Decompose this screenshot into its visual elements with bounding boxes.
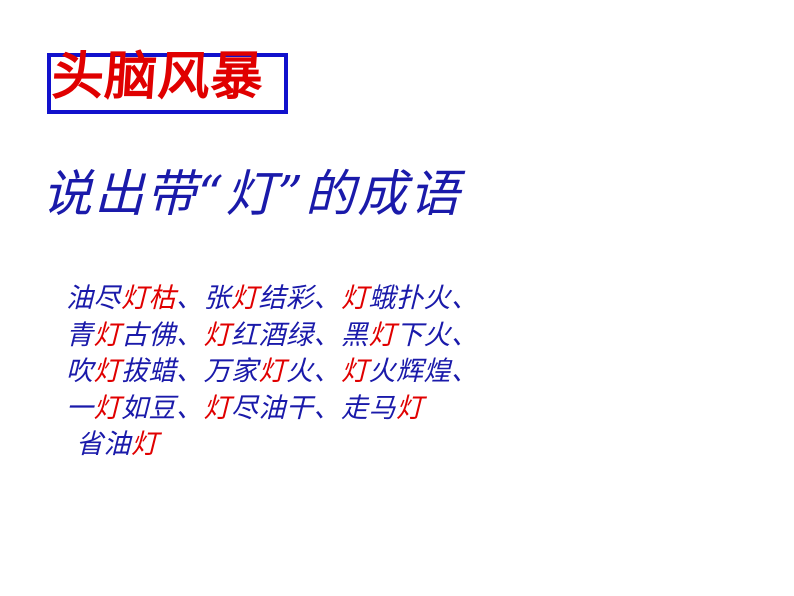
- idiom-line: 青灯古佛、灯红酒绿、黑灯下火、: [66, 318, 479, 355]
- idiom-text: 拔蜡、万家: [121, 356, 259, 387]
- idiom-list: 油尽灯枯、张灯结彩、灯蛾扑火、青灯古佛、灯红酒绿、黑灯下火、吹灯拔蜡、万家灯火、…: [66, 281, 479, 464]
- idiom-highlight-char: 灯: [94, 320, 122, 351]
- idiom-line: 一灯如豆、灯尽油干、走马灯: [66, 391, 479, 428]
- idiom-text: 古佛、: [121, 320, 204, 351]
- idiom-line: 省油灯: [66, 427, 479, 464]
- idiom-text: 省油: [76, 429, 131, 460]
- idiom-text: 红酒绿、黑: [231, 320, 369, 351]
- idiom-highlight-char: 灯: [231, 283, 259, 314]
- idiom-highlight-char: 灯: [121, 283, 149, 314]
- subtitle-prompt: 说出带“灯”的成语: [42, 163, 461, 225]
- idiom-text: 下火、: [396, 320, 479, 351]
- idiom-highlight-char: 灯: [204, 393, 232, 424]
- idiom-highlight-char: 灯: [369, 320, 397, 351]
- idiom-text: 油尽: [66, 283, 121, 314]
- idiom-text: 蛾扑火、: [369, 283, 479, 314]
- idiom-highlight-char: 灯: [131, 429, 159, 460]
- idiom-highlight-char: 枯: [149, 283, 177, 314]
- page-title: 头脑风暴: [50, 46, 314, 108]
- idiom-highlight-char: 灯: [341, 356, 369, 387]
- idiom-highlight-char: 灯: [94, 393, 122, 424]
- idiom-highlight-char: 灯: [204, 320, 232, 351]
- idiom-text: 火辉煌、: [369, 356, 479, 387]
- idiom-text: 结彩、: [259, 283, 342, 314]
- idiom-text: 、张: [176, 283, 231, 314]
- idiom-highlight-char: 灯: [259, 356, 287, 387]
- idiom-text: 如豆、: [121, 393, 204, 424]
- idiom-highlight-char: 灯: [94, 356, 122, 387]
- idiom-highlight-char: 灯: [396, 393, 424, 424]
- idiom-text: 青: [66, 320, 94, 351]
- idiom-highlight-char: 灯: [341, 283, 369, 314]
- idiom-text: 一: [66, 393, 94, 424]
- idiom-text: 吹: [66, 356, 94, 387]
- idiom-line: 吹灯拔蜡、万家灯火、灯火辉煌、: [66, 354, 479, 391]
- idiom-text: 尽油干、走马: [231, 393, 396, 424]
- idiom-line: 油尽灯枯、张灯结彩、灯蛾扑火、: [66, 281, 479, 318]
- idiom-text: 火、: [286, 356, 341, 387]
- slide-canvas: 头脑风暴 说出带“灯”的成语 油尽灯枯、张灯结彩、灯蛾扑火、青灯古佛、灯红酒绿、…: [0, 0, 794, 596]
